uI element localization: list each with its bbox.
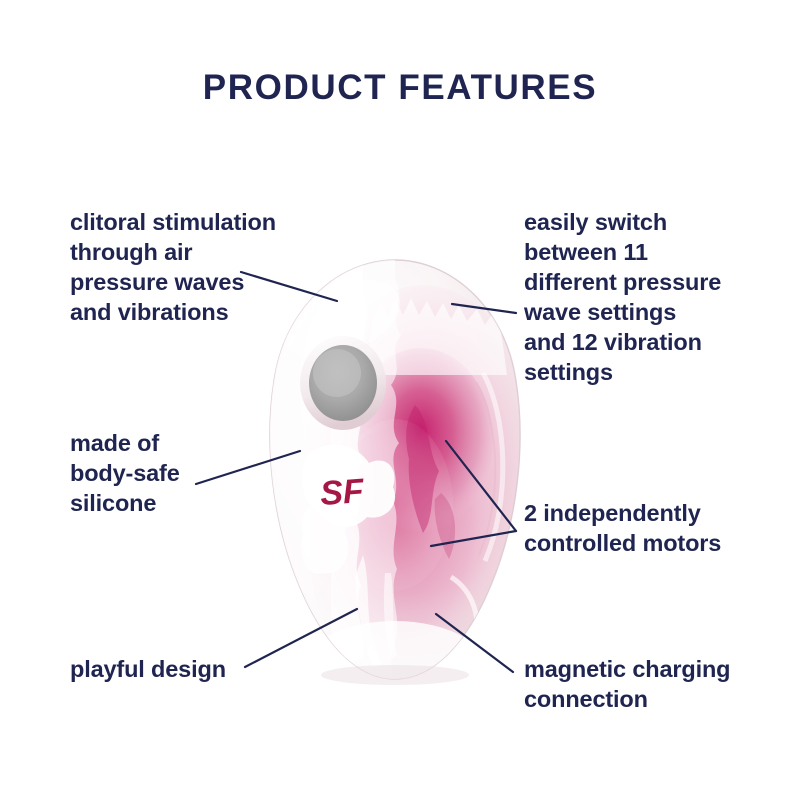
svg-text:SF: SF [319, 472, 366, 513]
feature-label-magnetic-charging: magnetic charging connection [524, 654, 764, 714]
brand-logo-sf: SF [319, 472, 366, 513]
product-features-infographic: PRODUCT FEATURES [0, 0, 800, 800]
feature-label-playful-design: playful design [70, 654, 290, 684]
feature-label-pressure-wave-settings: easily switch between 11 different press… [524, 207, 744, 387]
feature-label-clitoral-stimulation: clitoral stimulation through air pressur… [70, 207, 310, 327]
feature-label-body-safe-silicone: made of body-safe silicone [70, 428, 270, 518]
page-title: PRODUCT FEATURES [0, 68, 800, 108]
feature-label-independent-motors: 2 independently controlled motors [524, 498, 754, 558]
air-pressure-opening [300, 336, 386, 430]
